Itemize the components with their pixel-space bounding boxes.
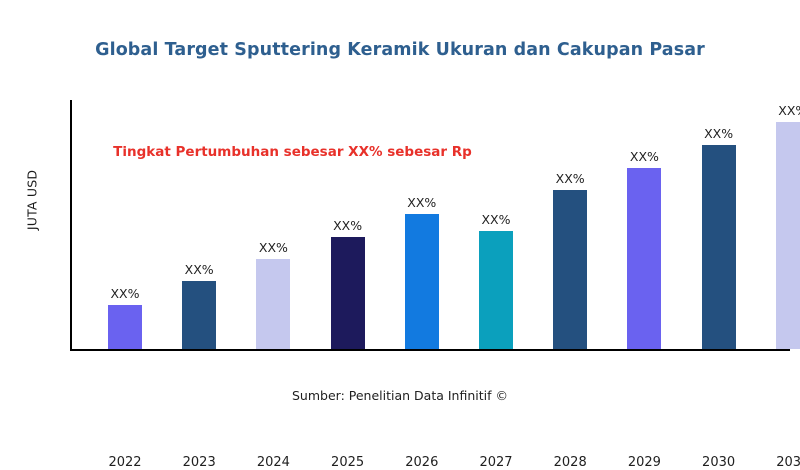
x-tick-2022: 2022 <box>93 455 157 470</box>
bar-value-label-2023: XX% <box>185 262 214 277</box>
x-tick-2025: 2025 <box>316 455 380 470</box>
x-tick-2029: 2029 <box>612 455 676 470</box>
x-tick-2031: 2031 <box>761 455 800 470</box>
y-axis-label: JUTA USD <box>25 170 40 230</box>
bar-2026[interactable] <box>405 214 439 349</box>
bar-2031[interactable] <box>776 122 800 349</box>
x-tick-2027: 2027 <box>464 455 528 470</box>
bar-group: XX% <box>553 100 587 349</box>
bar-2023[interactable] <box>182 281 216 349</box>
y-axis-label-wrap: JUTA USD <box>18 140 46 260</box>
bar-group: XX% <box>405 100 439 349</box>
bar-2028[interactable] <box>553 190 587 349</box>
bar-value-label-2030: XX% <box>704 126 733 141</box>
bar-group: XX% <box>479 100 513 349</box>
bar-group: XX% <box>776 100 800 349</box>
plot-area: XX%XX%XX%XX%XX%XX%XX%XX%XX%XX% 202220232… <box>70 100 790 349</box>
x-axis-line <box>70 349 790 351</box>
x-tick-2023: 2023 <box>167 455 231 470</box>
bar-2030[interactable] <box>702 145 736 349</box>
bar-2027[interactable] <box>479 231 513 349</box>
x-tick-2028: 2028 <box>538 455 602 470</box>
bar-value-label-2031: XX% <box>778 103 800 118</box>
chart-title: Global Target Sputtering Keramik Ukuran … <box>0 40 800 60</box>
source-note: Sumber: Penelitian Data Infinitif © <box>0 388 800 403</box>
bar-group: XX% <box>702 100 736 349</box>
bar-group: XX% <box>182 100 216 349</box>
bar-2022[interactable] <box>108 305 142 349</box>
bar-group: XX% <box>627 100 661 349</box>
bar-value-label-2022: XX% <box>110 286 139 301</box>
bar-value-label-2025: XX% <box>333 218 362 233</box>
chart-container: Global Target Sputtering Keramik Ukuran … <box>0 0 800 450</box>
bar-value-label-2027: XX% <box>481 212 510 227</box>
bar-group: XX% <box>256 100 290 349</box>
bar-value-label-2024: XX% <box>259 240 288 255</box>
bar-group: XX% <box>331 100 365 349</box>
bar-value-label-2028: XX% <box>556 171 585 186</box>
x-tick-2026: 2026 <box>390 455 454 470</box>
bar-2024[interactable] <box>256 259 290 349</box>
bar-value-label-2029: XX% <box>630 149 659 164</box>
bar-2029[interactable] <box>627 168 661 349</box>
bar-value-label-2026: XX% <box>407 195 436 210</box>
x-tick-2024: 2024 <box>241 455 305 470</box>
x-tick-2030: 2030 <box>687 455 751 470</box>
bar-group: XX% <box>108 100 142 349</box>
bar-2025[interactable] <box>331 237 365 349</box>
y-axis-line <box>70 100 72 349</box>
